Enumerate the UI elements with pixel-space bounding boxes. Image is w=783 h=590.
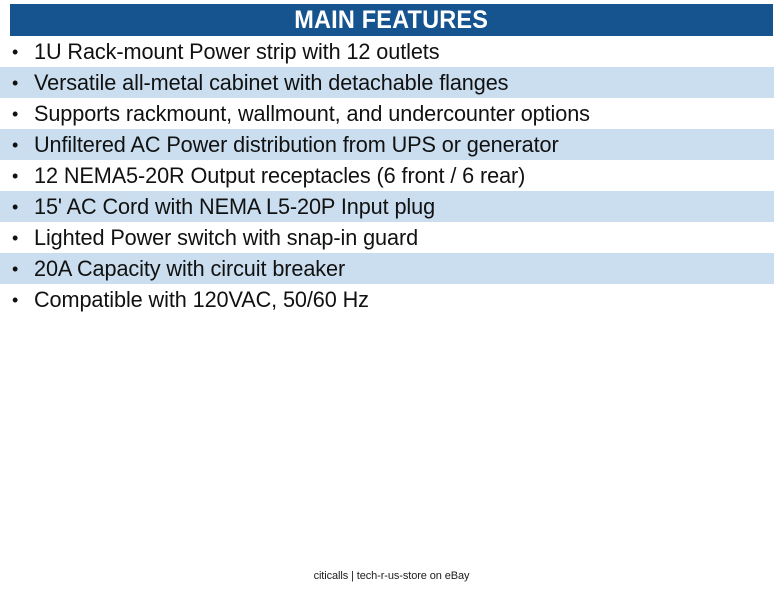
bullet-icon: • [12,260,34,278]
footer-seller-text: citicalls | tech-r-us-store on eBay [314,569,470,583]
list-item: •15' AC Cord with NEMA L5-20P Input plug [0,191,774,222]
bullet-icon: • [12,167,34,185]
feature-item-label: Lighted Power switch with snap-in guard [34,225,772,251]
page-title: MAIN FEATURES [295,8,489,33]
feature-item-label: Unfiltered AC Power distribution from UP… [34,132,763,158]
list-item: •20A Capacity with circuit breaker [0,253,774,284]
list-item: •Compatible with 120VAC, 50/60 Hz [0,284,783,315]
feature-item-label: Versatile all-metal cabinet with detacha… [34,70,763,96]
feature-item-label: 1U Rack-mount Power strip with 12 outlet… [34,39,772,65]
footer: citicalls | tech-r-us-store on eBay [0,566,783,584]
feature-item-label: 12 NEMA5-20R Output receptacles (6 front… [34,163,772,189]
bullet-icon: • [12,229,34,247]
list-item: •Versatile all-metal cabinet with detach… [0,67,774,98]
bullet-icon: • [12,43,34,61]
feature-item-label: 15' AC Cord with NEMA L5-20P Input plug [34,194,763,220]
feature-item-label: Supports rackmount, wallmount, and under… [34,101,772,127]
list-item: •12 NEMA5-20R Output receptacles (6 fron… [0,160,783,191]
list-item: •Lighted Power switch with snap-in guard [0,222,783,253]
bullet-icon: • [12,74,34,92]
feature-item-label: 20A Capacity with circuit breaker [34,256,763,282]
bullet-icon: • [12,198,34,216]
list-item: •1U Rack-mount Power strip with 12 outle… [0,36,783,67]
list-item: •Unfiltered AC Power distribution from U… [0,129,774,160]
bullet-icon: • [12,105,34,123]
feature-item-label: Compatible with 120VAC, 50/60 Hz [34,287,772,313]
feature-list: •1U Rack-mount Power strip with 12 outle… [0,36,783,315]
main-features-header: MAIN FEATURES [10,4,773,36]
bullet-icon: • [12,291,34,309]
feature-sheet: MAIN FEATURES •1U Rack-mount Power strip… [0,0,783,590]
bullet-icon: • [12,136,34,154]
list-item: •Supports rackmount, wallmount, and unde… [0,98,783,129]
